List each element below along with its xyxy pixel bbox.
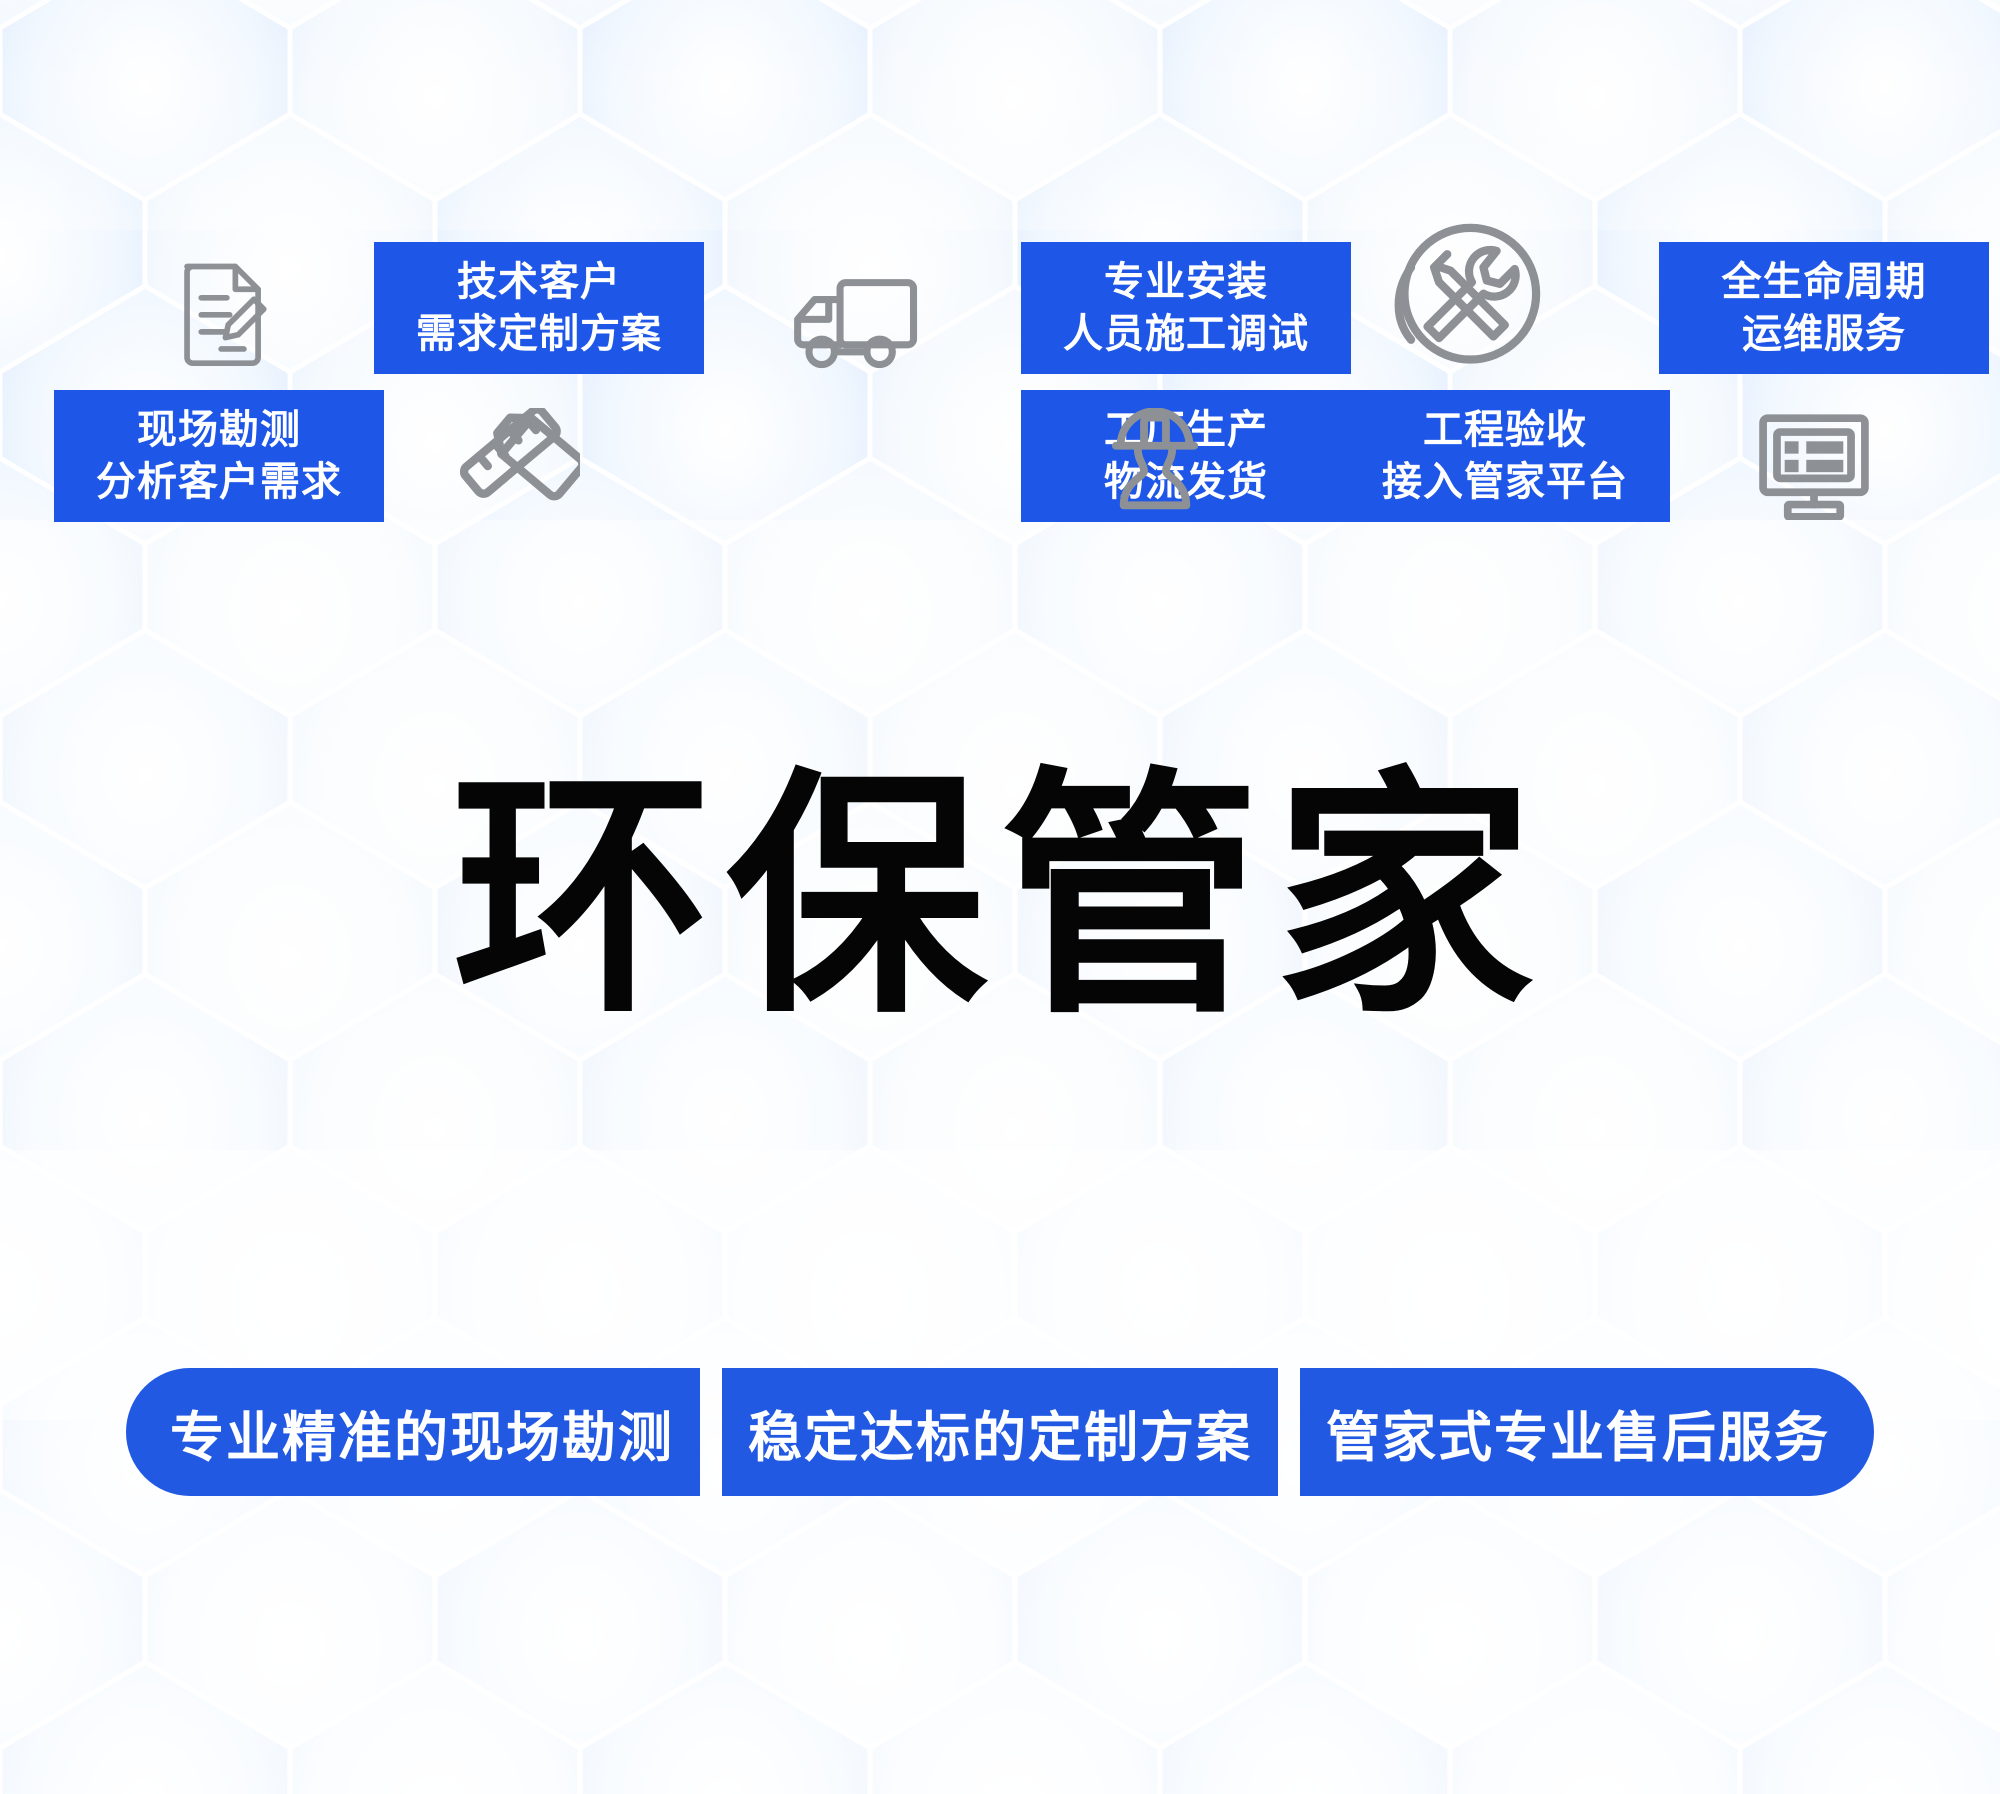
- process-step-acceptance-line2: 接入管家平台: [1382, 456, 1628, 508]
- document-pencil-icon: [178, 258, 270, 366]
- process-step-install-line1: 专业安装: [1104, 256, 1268, 308]
- tools-circle-icon: [1388, 218, 1546, 376]
- process-step-install-line2: 人员施工调试: [1063, 308, 1309, 360]
- process-step-install[interactable]: 专业安装 人员施工调试: [1021, 242, 1351, 374]
- highlight-pill-service[interactable]: 管家式专业售后服务: [1300, 1368, 1874, 1496]
- highlight-pill-survey[interactable]: 专业精准的现场勘测: [126, 1368, 700, 1496]
- process-step-acceptance-line1: 工程验收: [1423, 404, 1587, 456]
- monitor-report-icon: [1756, 412, 1872, 520]
- process-step-solution[interactable]: 技术客户 需求定制方案: [374, 242, 704, 374]
- process-step-survey-line2: 分析客户需求: [96, 456, 342, 508]
- process-step-lifecycle-line2: 运维服务: [1742, 308, 1906, 360]
- worker-helmet-icon: [1108, 408, 1202, 518]
- process-step-solution-line2: 需求定制方案: [416, 308, 662, 360]
- process-flow-band: 现场勘测 分析客户需求 技术客户 需求定制方案: [0, 0, 2000, 560]
- delivery-truck-icon: [792, 274, 922, 376]
- highlight-pill-plan[interactable]: 稳定达标的定制方案: [722, 1368, 1278, 1496]
- ruler-pencil-icon: [460, 408, 580, 518]
- process-step-lifecycle-line1: 全生命周期: [1722, 256, 1927, 308]
- highlight-pill-group: 专业精准的现场勘测 稳定达标的定制方案 管家式专业售后服务: [0, 1368, 2000, 1496]
- process-step-survey[interactable]: 现场勘测 分析客户需求: [54, 390, 384, 522]
- process-step-survey-line1: 现场勘测: [137, 404, 301, 456]
- process-step-acceptance[interactable]: 工程验收 接入管家平台: [1340, 390, 1670, 522]
- process-step-lifecycle[interactable]: 全生命周期 运维服务: [1659, 242, 1989, 374]
- page-title: 环保管家: [0, 770, 2000, 1030]
- process-step-solution-line1: 技术客户: [457, 256, 621, 308]
- poster-canvas: 现场勘测 分析客户需求 技术客户 需求定制方案: [0, 0, 2000, 1794]
